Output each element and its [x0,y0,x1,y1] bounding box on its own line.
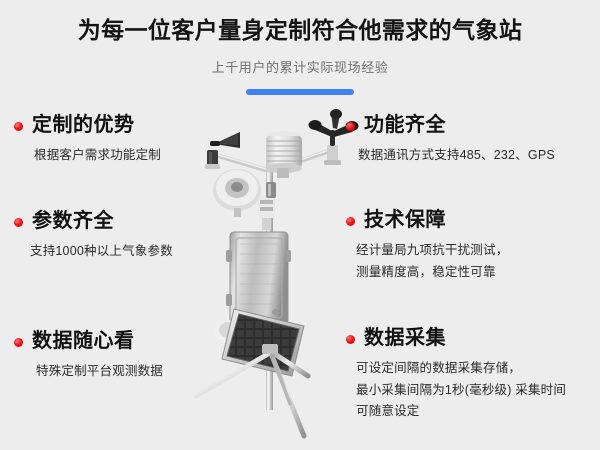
feature-technical-desc: 经计量局九项抗干扰测试， 测量精度高，稳定性可靠 [346,231,508,283]
feature-technical: 技术保障 经计量局九项抗干扰测试， 测量精度高，稳定性可靠 [346,209,508,283]
feature-data-view-desc: 特殊定制平台观测数据 [14,352,163,383]
feature-data-view-desc-line-1: 特殊定制平台观测数据 [36,361,163,383]
product-photo [182,104,362,444]
bullet-dot-icon [346,335,355,344]
page-header: 为每一位客户量身定制符合他需求的气象站 上千用户的累计实际现场经验 [0,0,600,95]
feature-acquisition-desc: 可设定间隔的数据采集存储， 最小采集间隔为1秒(毫秒级) 采集时间 可随意设定 [346,349,566,423]
bullet-dot-icon [14,122,23,131]
feature-functions-heading: 功能齐全 [346,114,555,136]
feature-data-view-heading: 数据随心看 [14,330,163,352]
radiation-shield-sensor [266,131,302,178]
feature-technical-desc-line-1: 经计量局九项抗干扰测试， [356,240,508,262]
feature-data-view: 数据随心看 特殊定制平台观测数据 [14,330,163,383]
feature-functions-desc-line-1: 数据通讯方式支持485、232、GPS [358,145,555,167]
feature-acquisition-title: 数据采集 [364,327,446,349]
feature-acquisition-desc-line-2: 最小采集间隔为1秒(毫秒级) 采集时间 [356,380,566,402]
feature-data-view-title: 数据随心看 [32,330,135,352]
feature-functions-desc: 数据通讯方式支持485、232、GPS [346,136,555,167]
feature-custom-desc: 根据客户需求功能定制 [14,136,161,167]
feature-params-title: 参数齐全 [32,210,114,232]
promo-page: 为每一位客户量身定制符合他需求的气象站 上千用户的累计实际现场经验 [0,0,600,450]
feature-params-desc-line-1: 支持1000种以上气象参数 [30,241,173,263]
feature-params: 参数齐全 支持1000种以上气象参数 [14,210,173,263]
feature-params-desc: 支持1000种以上气象参数 [14,232,173,263]
feature-functions-title: 功能齐全 [364,114,446,136]
feature-technical-heading: 技术保障 [346,209,508,231]
title-divider [246,89,354,95]
rain-gauge-sensor [213,169,261,217]
feature-acquisition-desc-line-1: 可设定间隔的数据采集存储， [356,358,566,380]
feature-acquisition-heading: 数据采集 [346,327,566,349]
bullet-dot-icon [346,217,355,226]
wind-vane-sensor [205,132,240,169]
feature-custom: 定制的优势 根据客户需求功能定制 [14,114,161,167]
feature-custom-heading: 定制的优势 [14,114,161,136]
page-title: 为每一位客户量身定制符合他需求的气象站 [0,0,600,45]
feature-functions: 功能齐全 数据通讯方式支持485、232、GPS [346,114,555,167]
bullet-dot-icon [346,122,355,131]
feature-technical-desc-line-2: 测量精度高，稳定性可靠 [356,262,508,284]
bullet-dot-icon [14,338,23,347]
feature-acquisition: 数据采集 可设定间隔的数据采集存储， 最小采集间隔为1秒(毫秒级) 采集时间 可… [346,327,566,423]
feature-params-heading: 参数齐全 [14,210,173,232]
page-subtitle: 上千用户的累计实际现场经验 [0,45,600,76]
bullet-dot-icon [14,218,23,227]
feature-custom-title: 定制的优势 [32,114,135,136]
feature-acquisition-desc-line-3: 可随意设定 [356,401,566,423]
feature-technical-title: 技术保障 [364,209,446,231]
feature-custom-desc-line-1: 根据客户需求功能定制 [34,145,161,167]
